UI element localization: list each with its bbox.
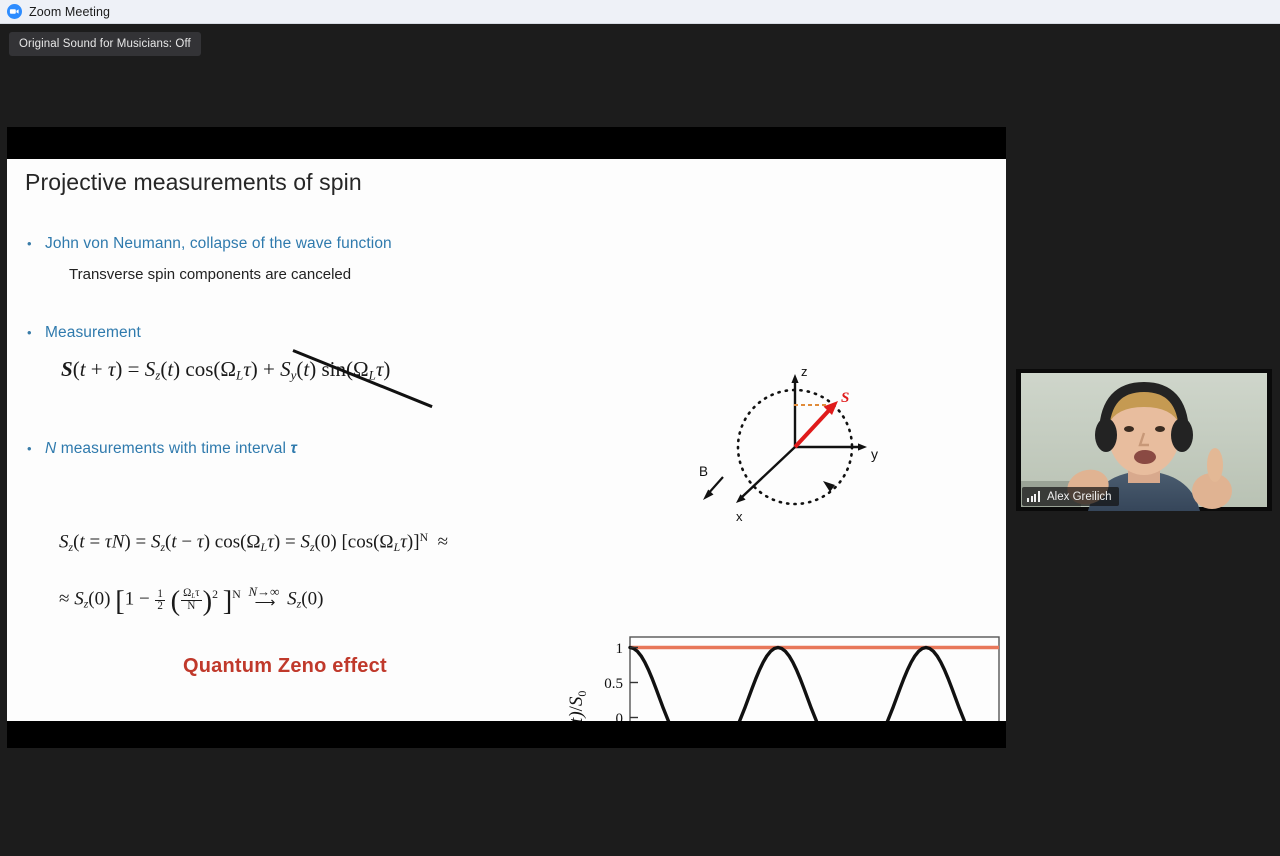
bullet-marker-icon: •: [27, 326, 45, 339]
axis-label-y: y: [871, 446, 878, 462]
window-title-bar: Zoom Meeting: [0, 0, 1280, 24]
equation-sz-recursion: Sz(t = τN) = Sz(t − τ) cos(ΩLτ) = Sz(0) …: [59, 531, 448, 555]
sub-text-transverse: Transverse spin components are canceled: [69, 266, 351, 283]
quantum-zeno-highlight: Quantum Zeno effect: [183, 655, 387, 678]
bullet-label-n-measurements: N measurements with time interval τ: [45, 440, 297, 458]
original-sound-label: Original Sound for Musicians: Off: [19, 38, 191, 50]
plot-ylabel: Sz(t)/S0: [566, 691, 589, 721]
ytick-label-0: 1: [616, 641, 624, 657]
sz-oscillation-plot: 1 0.5 0 −0.5 −1 0 1 2 3 4 5 Time (tΩ/2π): [562, 621, 1006, 721]
spin-label-s: S: [841, 390, 849, 406]
window-title: Zoom Meeting: [29, 5, 110, 19]
participant-video-tile[interactable]: Alex Greilich: [1016, 369, 1272, 511]
shared-screen-region: Projective measurements of spin • John v…: [7, 127, 1006, 748]
bloch-sphere-diagram: z y x B S: [675, 364, 925, 529]
field-label-b: B: [699, 464, 708, 479]
bullet-item-n-measurements: • N measurements with time interval τ: [27, 440, 297, 458]
participant-name-badge: Alex Greilich: [1022, 487, 1119, 506]
presentation-slide: Projective measurements of spin • John v…: [7, 159, 1006, 721]
bullet-item-measurement: • Measurement: [27, 324, 141, 342]
bullet-marker-icon: •: [27, 237, 45, 250]
axis-label-z: z: [801, 364, 808, 379]
audio-signal-icon: [1027, 491, 1041, 502]
bullet-marker-icon: •: [27, 442, 45, 455]
original-sound-banner[interactable]: Original Sound for Musicians: Off: [9, 32, 201, 56]
bullet-label-von-neumann: John von Neumann, collapse of the wave f…: [45, 235, 392, 253]
slide-title: Projective measurements of spin: [25, 169, 362, 196]
axis-label-x: x: [736, 509, 743, 524]
equation-sz-limit: ≈ Sz(0) [1 − 12 (ΩLτN)2 ]N N→∞⟶ Sz(0): [59, 586, 323, 618]
participant-name: Alex Greilich: [1047, 491, 1112, 503]
bullet-item-von-neumann: • John von Neumann, collapse of the wave…: [27, 235, 392, 253]
zoom-logo-icon: [7, 4, 22, 19]
bullet-label-measurement: Measurement: [45, 324, 141, 342]
ytick-label-2: 0: [616, 711, 624, 721]
ytick-label-1: 0.5: [604, 676, 623, 692]
